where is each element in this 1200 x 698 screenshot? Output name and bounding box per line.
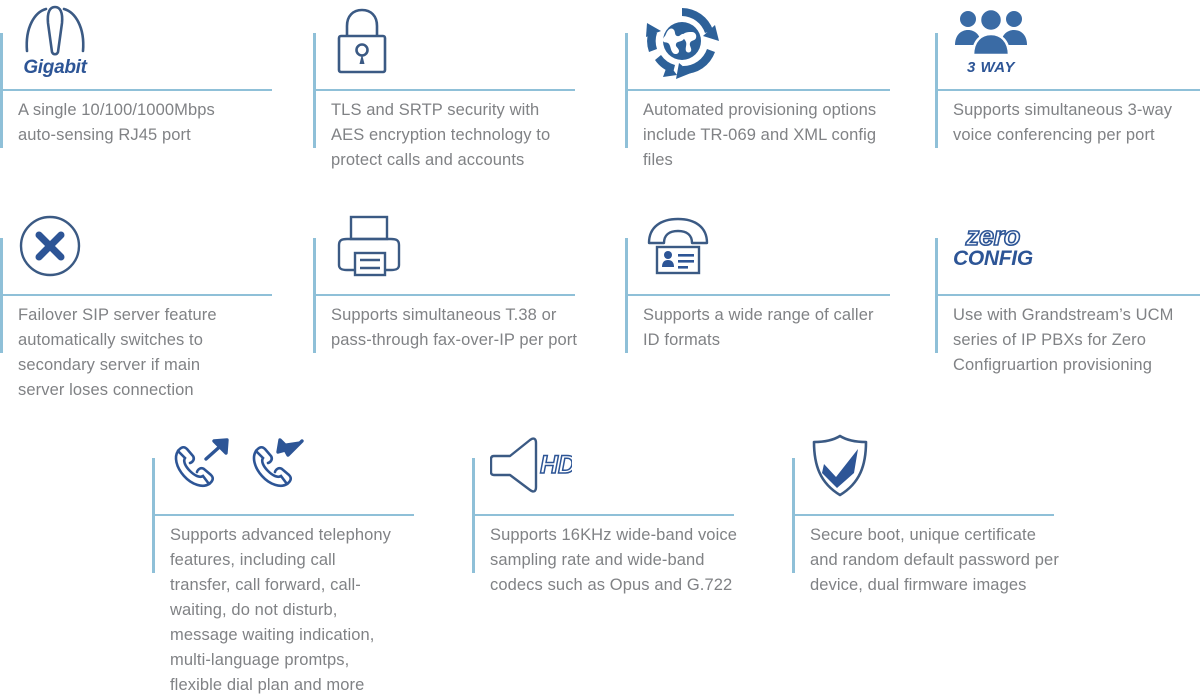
outgoing-call-icon [170, 437, 232, 495]
divider-line [935, 294, 1200, 296]
feature-text: A single 10/100/1000Mbps auto-sensing RJ… [18, 98, 250, 148]
feature-text: Supports a wide range of caller ID forma… [643, 303, 885, 353]
incoming-call-icon [248, 437, 310, 495]
zero-label: zero [966, 224, 1020, 248]
gigabit-arch-icon: Gigabit [18, 0, 92, 82]
divider-line [0, 294, 272, 296]
feature-text: Supports 16KHz wide-band voice sampling … [490, 523, 740, 598]
feature-text: Automated provisioning options include T… [643, 98, 885, 173]
x-circle-icon [18, 205, 82, 287]
feature-text: Supports simultaneous T.38 or pass-throu… [331, 303, 581, 353]
padlock-icon [331, 0, 393, 82]
globe-refresh-icon [643, 0, 721, 82]
hd-speaker-icon: HD [490, 425, 572, 507]
phone-id-card-icon [643, 205, 713, 287]
feature-text: Failover SIP server feature automaticall… [18, 303, 250, 403]
feature-text: Use with Grandstream’s UCM series of IP … [953, 303, 1185, 378]
three-people-icon: 3 WAY [953, 0, 1029, 82]
config-label: CONFIG [953, 248, 1033, 269]
call-transfer-icons [170, 425, 310, 507]
divider-line [472, 514, 734, 516]
three-way-label: 3 WAY [967, 59, 1015, 76]
feature-text: TLS and SRTP security with AES encryptio… [331, 98, 573, 173]
divider-line [935, 89, 1200, 91]
divider-line [625, 89, 890, 91]
zero-config-wordmark-icon: zero CONFIG [953, 205, 1033, 287]
divider-line [313, 89, 575, 91]
feature-text: Supports advanced telephony features, in… [170, 523, 395, 698]
divider-line [0, 89, 272, 91]
divider-line [152, 514, 414, 516]
feature-grid: Gigabit A single 10/100/1000Mbps auto-se… [0, 0, 1200, 687]
divider-line [313, 294, 575, 296]
divider-line [792, 514, 1054, 516]
fax-machine-icon [331, 205, 407, 287]
svg-text:HD: HD [540, 451, 572, 479]
divider-line [625, 294, 890, 296]
shield-check-icon [810, 425, 870, 507]
gigabit-label: Gigabit [23, 57, 86, 79]
feature-text: Secure boot, unique certificate and rand… [810, 523, 1060, 598]
feature-text: Supports simultaneous 3-way voice confer… [953, 98, 1185, 148]
